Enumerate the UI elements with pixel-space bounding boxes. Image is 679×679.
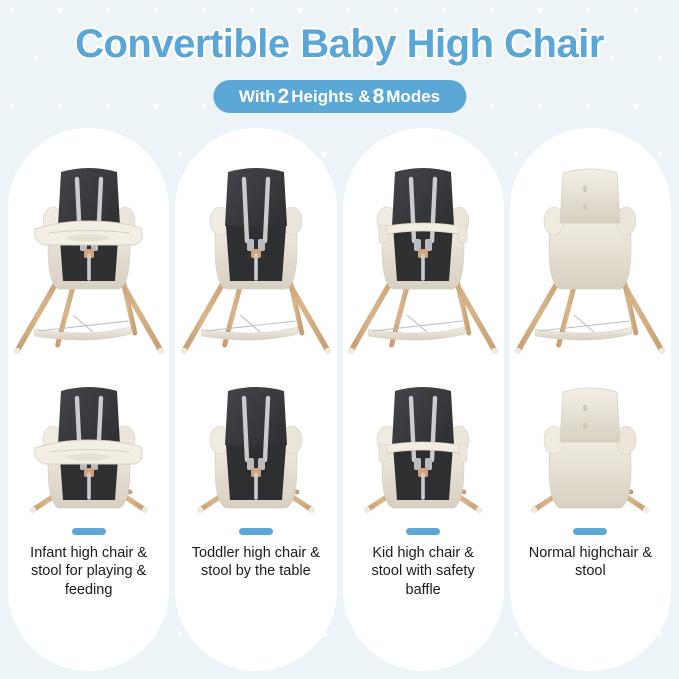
badge-text-post: Modes <box>386 88 440 105</box>
stool-chair-image-infant <box>8 358 169 518</box>
page-title: Convertible Baby High Chair <box>0 22 679 67</box>
badge-heights-count: 2 <box>276 86 292 107</box>
card-caption: Toddler high chair & stool by the table <box>175 544 336 581</box>
stool-chair-image-toddler <box>175 358 336 518</box>
product-card-toddler[interactable]: Toddler high chair & stool by the table <box>175 128 336 671</box>
caption-divider <box>573 528 607 535</box>
subtitle-badge: With 2 Heights & 8 Modes <box>213 80 466 113</box>
card-caption: Kid high chair & stool with safety baffl… <box>343 544 504 599</box>
caption-divider <box>406 528 440 535</box>
high-chair-image-normal <box>510 136 671 358</box>
product-card-normal[interactable]: Normal highchair & stool <box>510 128 671 671</box>
high-chair-image-toddler <box>175 136 336 358</box>
card-caption: Infant high chair & stool for playing & … <box>8 544 169 599</box>
caption-divider <box>239 528 273 535</box>
high-chair-image-infant <box>8 136 169 358</box>
card-caption: Normal highchair & stool <box>510 544 671 581</box>
high-chair-image-kid <box>343 136 504 358</box>
badge-modes-count: 8 <box>371 86 387 107</box>
product-mode-cards: Infant high chair & stool for playing & … <box>8 128 671 671</box>
badge-text-pre: With <box>239 88 276 105</box>
product-card-kid[interactable]: Kid high chair & stool with safety baffl… <box>343 128 504 671</box>
product-card-infant[interactable]: Infant high chair & stool for playing & … <box>8 128 169 671</box>
caption-divider <box>72 528 106 535</box>
header: Convertible Baby High Chair With 2 Heigh… <box>0 0 679 126</box>
stool-chair-image-kid <box>343 358 504 518</box>
stool-chair-image-normal <box>510 358 671 518</box>
badge-text-mid: Heights & <box>291 88 370 105</box>
